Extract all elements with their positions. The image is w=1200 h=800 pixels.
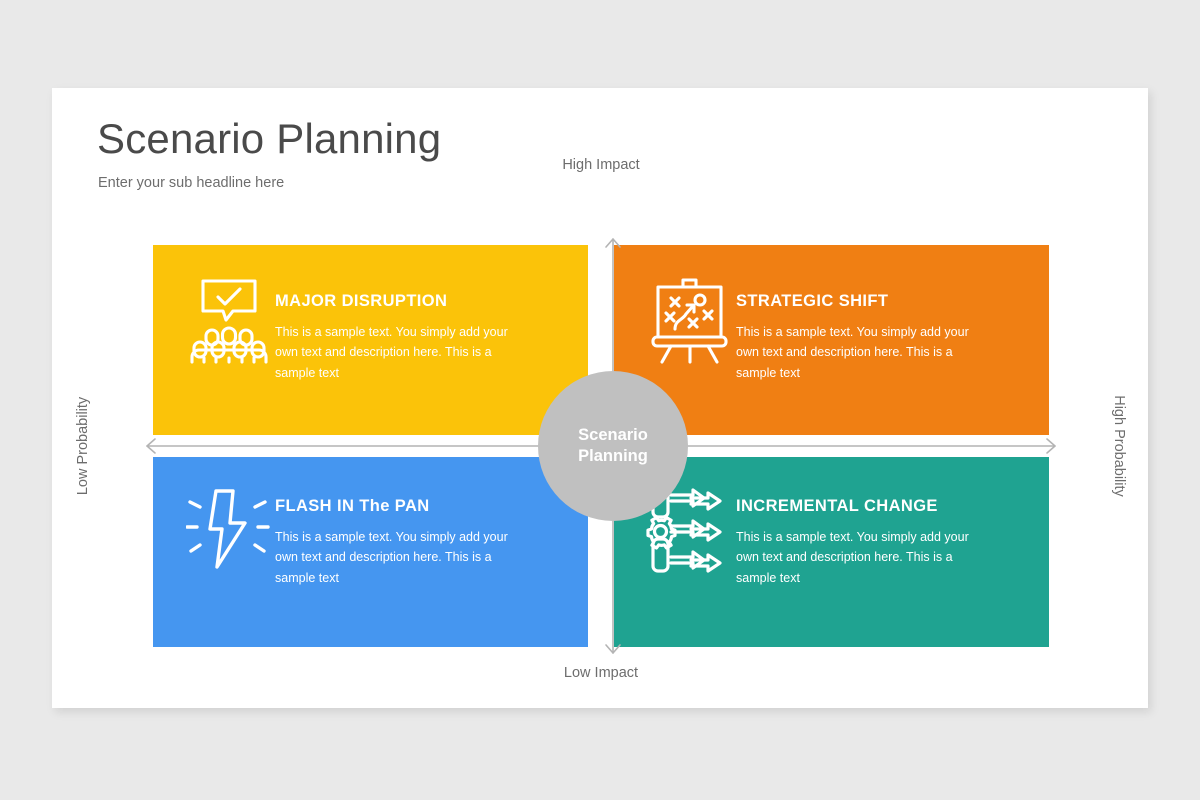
page-title: Scenario Planning xyxy=(97,115,441,163)
axis-label-high-impact: High Impact xyxy=(562,157,639,173)
axis-label-high-probability: High Probability xyxy=(1111,395,1127,497)
strategy-board-icon xyxy=(644,278,736,364)
page-subtitle: Enter your sub headline here xyxy=(98,175,284,191)
quadrant-incremental-change[interactable]: INCREMENTAL CHANGE This is a sample text… xyxy=(614,457,1049,647)
quadrant-description: This is a sample text. You simply add yo… xyxy=(736,322,976,383)
quadrant-title: MAJOR DISRUPTION xyxy=(275,292,568,311)
quadrant-major-disruption[interactable]: MAJOR DISRUPTION This is a sample text. … xyxy=(153,245,588,435)
quadrant-description: This is a sample text. You simply add yo… xyxy=(275,322,515,383)
slide-card: Scenario Planning Enter your sub headlin… xyxy=(52,88,1148,708)
center-badge-line2: Planning xyxy=(578,446,648,467)
quadrant-title: STRATEGIC SHIFT xyxy=(736,292,1029,311)
center-badge[interactable]: Scenario Planning xyxy=(538,371,688,521)
center-badge-line1: Scenario xyxy=(578,425,648,446)
quadrant-description: This is a sample text. You simply add yo… xyxy=(275,527,515,588)
quadrant-title: FLASH IN The PAN xyxy=(275,497,568,516)
audience-approval-icon xyxy=(183,278,275,364)
quadrant-strategic-shift[interactable]: STRATEGIC SHIFT This is a sample text. Y… xyxy=(614,245,1049,435)
lightning-flash-icon xyxy=(183,485,275,573)
quadrant-description: This is a sample text. You simply add yo… xyxy=(736,527,976,588)
axis-label-low-impact: Low Impact xyxy=(564,665,638,681)
quadrant-title: INCREMENTAL CHANGE xyxy=(736,497,1029,516)
quadrant-flash-in-the-pan[interactable]: FLASH IN The PAN This is a sample text. … xyxy=(153,457,588,647)
scenario-matrix: MAJOR DISRUPTION This is a sample text. … xyxy=(153,245,1049,647)
axis-label-low-probability: Low Probability xyxy=(75,397,91,495)
